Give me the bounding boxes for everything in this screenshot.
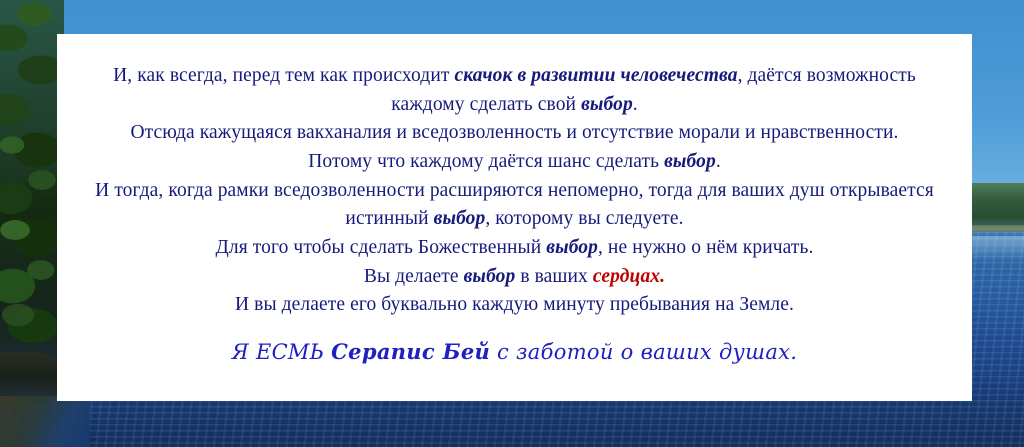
- text-run: Вы делаете: [364, 266, 464, 287]
- message-card: И, как всегда, перед тем как происходит …: [57, 34, 972, 401]
- text-run: в ваших: [515, 266, 593, 287]
- paragraph-3: Потому что каждому даётся шанс сделать в…: [79, 148, 950, 177]
- text-run: И вы делаете его буквально каждую минуту…: [235, 294, 794, 315]
- text-run: И, как всегда, перед тем как происходит: [113, 65, 454, 86]
- paragraph-4: И тогда, когда рамки вседозволенности ра…: [79, 177, 950, 234]
- text-run: скачок в развитии человечества: [454, 65, 737, 86]
- text-run: Потому что каждому даётся шанс сделать: [308, 151, 664, 172]
- text-run: Я ЕСМЬ: [232, 340, 331, 364]
- text-run: Отсюда кажущаяся вакханалия и вседозволе…: [131, 122, 899, 143]
- text-run: выбор: [464, 266, 516, 287]
- paragraph-5: Для того чтобы сделать Божественный выбо…: [79, 234, 950, 263]
- text-run: выбор: [434, 208, 486, 229]
- text-run: Серапис Бей: [331, 339, 490, 364]
- paragraph-7: И вы делаете его буквально каждую минуту…: [79, 291, 950, 320]
- text-run: , которому вы следуете.: [485, 208, 683, 229]
- paragraph-2: Отсюда кажущаяся вакханалия и вседозволе…: [79, 119, 950, 148]
- paragraph-1: И, как всегда, перед тем как происходит …: [79, 62, 950, 119]
- text-run: сердцах.: [593, 266, 665, 287]
- text-run: Для того чтобы сделать Божественный: [215, 237, 546, 258]
- text-run: .: [716, 151, 721, 172]
- message-body: И, как всегда, перед тем как происходит …: [79, 62, 950, 320]
- paragraph-6: Вы делаете выбор в ваших сердцах.: [79, 263, 950, 292]
- foreground-bush: [0, 120, 60, 370]
- text-run: с заботой о ваших душах.: [490, 340, 797, 364]
- text-run: выбор: [546, 237, 598, 258]
- text-run: выбор: [664, 151, 716, 172]
- text-run: выбор: [581, 94, 633, 115]
- signature-line: Я ЕСМЬ Серапис Бей с заботой о ваших душ…: [79, 339, 950, 364]
- text-run: , не нужно о нём кричать.: [598, 237, 814, 258]
- left-shoreline: [0, 396, 90, 447]
- text-run: .: [633, 94, 638, 115]
- screenshot-stage: И, как всегда, перед тем как происходит …: [0, 0, 1024, 447]
